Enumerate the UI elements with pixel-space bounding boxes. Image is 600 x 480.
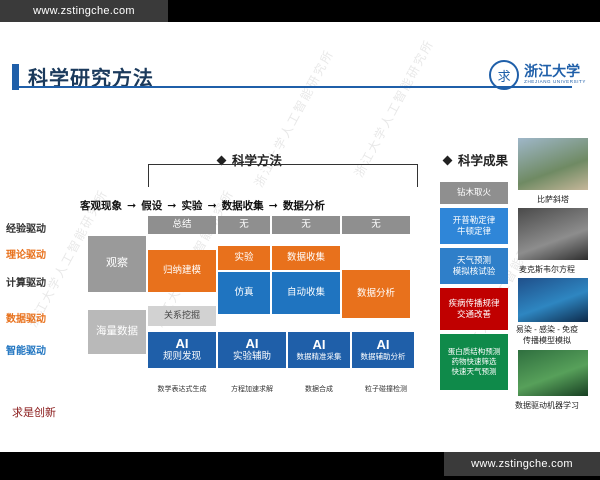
grid-header-cell: 无 <box>342 216 410 234</box>
grid-header-cell: 无 <box>272 216 340 234</box>
grid-cell-ai-rule-discovery: AI 规则发现 <box>148 332 216 368</box>
grid-header-cell: 无 <box>218 216 270 234</box>
ai-caption: 粒子碰撞检测 <box>348 384 424 394</box>
photo-caption-pisa: 比萨斜塔 <box>503 194 600 205</box>
photo-caption-maxwell: 麦克斯韦尔方程 <box>492 264 600 275</box>
watermark-bottom: www.zstingche.com <box>444 452 600 476</box>
photo-ml <box>518 350 588 396</box>
grid-header-cell: 总结 <box>148 216 216 234</box>
grid-cell-massive-data: 海量数据 <box>88 310 146 354</box>
signature-seal: 求是创新 <box>12 404 56 420</box>
flow-step: 假设 <box>141 198 162 213</box>
grid-cell-data-collection: 数据收集 <box>272 246 340 270</box>
flow-arrow-icon: ➞ <box>207 199 216 212</box>
flow-arrow-icon: ➞ <box>269 199 278 212</box>
driver-label-data: 数据驱动 <box>6 310 46 325</box>
logo-emblem-icon: 求 <box>489 60 519 90</box>
grid-cell-observation: 观察 <box>88 236 146 292</box>
grid-cell-relation-mining: 关系挖掘 <box>148 306 216 326</box>
photo-pisa-tower <box>518 138 588 190</box>
logo-title: 浙江大学 <box>524 64 586 78</box>
grid-cell-inductive-modeling: 归纳建模 <box>148 250 216 292</box>
university-logo: 求 浙江大学 ZHEJIANG UNIVERSITY <box>489 60 586 90</box>
driver-label-experience: 经验驱动 <box>6 220 46 235</box>
method-bracket <box>148 164 418 187</box>
flow-step: 实验 <box>181 198 202 213</box>
grid-cell-ai-analysis-assist: AI 数据辅助分析 <box>352 332 414 368</box>
driver-label-compute: 计算驱动 <box>6 274 46 289</box>
grid-cell-simulation: 仿真 <box>218 272 270 314</box>
photo-maxwell <box>518 208 588 260</box>
photo-epidemic-model <box>518 278 588 322</box>
driver-label-theory: 理论驱动 <box>6 246 46 261</box>
slide: 浙江大学人工智能研究所 浙江大学人工智能研究所 浙江大学人工智能研究所 浙江大学… <box>0 22 600 452</box>
grid-cell-ai-precise-collection: AI 数据精准采集 <box>288 332 350 368</box>
flow-step: 数据分析 <box>283 198 325 213</box>
grid-cell-data-analysis: 数据分析 <box>342 270 410 318</box>
watermark-top: www.zstingche.com <box>0 0 168 22</box>
grid-cell-experiment: 实验 <box>218 246 270 270</box>
flow-arrow-icon: ➞ <box>167 199 176 212</box>
ai-caption: 方程加速求解 <box>212 384 292 394</box>
photo-caption-epidemic: 易染 - 感染 - 免疫 传播模型模拟 <box>492 324 600 346</box>
ai-caption: 数据合成 <box>284 384 354 394</box>
logo-subtitle: ZHEJIANG UNIVERSITY <box>524 78 586 85</box>
flow-step: 客观现象 <box>80 198 122 213</box>
result-cell-laws: 开普勒定律 牛顿定律 <box>440 208 508 244</box>
flow-arrow-icon: ➞ <box>127 199 136 212</box>
section-title-result: 科学成果 <box>444 150 508 169</box>
flow-step: 数据收集 <box>222 198 264 213</box>
diagonal-watermark: 浙江大学人工智能研究所 <box>350 36 437 180</box>
driver-label-intelligence: 智能驱动 <box>6 342 46 357</box>
grid-cell-ai-experiment-assist: AI 实验辅助 <box>218 332 286 368</box>
method-flow: 客观现象 ➞ 假设 ➞ 实验 ➞ 数据收集 ➞ 数据分析 <box>80 198 325 213</box>
grid-cell-auto-collection: 自动收集 <box>272 272 340 314</box>
photo-caption-ml: 数据驱动机器学习 <box>492 400 600 411</box>
result-cell-fire: 钻木取火 <box>440 182 508 204</box>
diamond-icon <box>443 156 453 166</box>
header-divider <box>12 86 572 88</box>
